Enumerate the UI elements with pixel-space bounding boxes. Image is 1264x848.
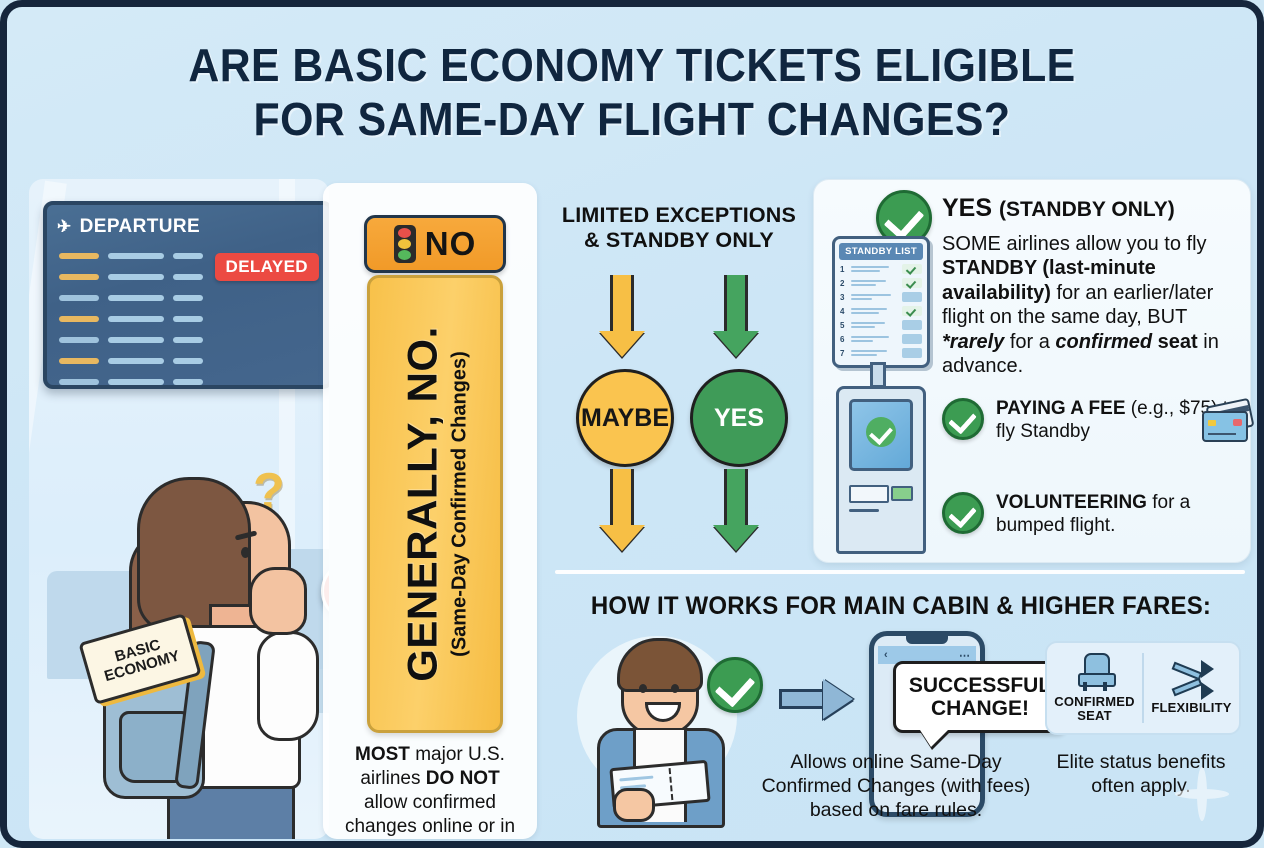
row-number: 3 xyxy=(840,293,848,302)
airport-illustration: ✈ DEPARTURE DELAYED ? xyxy=(29,179,329,839)
elite-benefits-box: CONFIRMED SEAT FLEXIBILITY xyxy=(1045,641,1241,735)
departure-board-title: DEPARTURE xyxy=(80,216,200,238)
standby-row: 7 xyxy=(840,347,922,359)
how-it-works-heading: HOW IT WORKS FOR MAIN CABIN & HIGHER FAR… xyxy=(569,592,1233,621)
row-number: 4 xyxy=(840,307,848,316)
standby-row: 6 xyxy=(840,333,922,345)
main-cabin-caption: Allows online Same-Day Confirmed Changes… xyxy=(751,751,1041,822)
node-maybe: MAYBE xyxy=(576,369,674,467)
arrow-down-maybe-top xyxy=(599,275,645,357)
generally-no-card: NO GENERALLY, NO. (Same-Day Confirmed Ch… xyxy=(323,183,537,839)
departure-board-header: ✈ DEPARTURE xyxy=(57,212,319,242)
eye-right xyxy=(671,684,679,693)
sparkle-icon xyxy=(1175,767,1229,821)
standby-kiosk: STANDBY LIST 1 2 3 4 5 6 7 xyxy=(832,236,924,548)
ellipsis-icon[interactable]: ⋯ xyxy=(959,649,970,662)
board-row xyxy=(59,312,319,325)
kiosk-pole xyxy=(870,362,886,388)
board-row xyxy=(59,333,319,346)
hand xyxy=(249,567,307,635)
standby-row: 2 xyxy=(840,277,922,289)
green-check-icon xyxy=(942,398,984,440)
row-number: 7 xyxy=(840,349,848,358)
row-number: 6 xyxy=(840,335,848,344)
kiosk-button[interactable] xyxy=(891,486,913,501)
generally-no-sub: (Same-Day Confirmed Changes) xyxy=(449,286,472,722)
green-check-icon xyxy=(707,657,763,713)
right-arrow-icon xyxy=(779,679,855,719)
row-empty-box xyxy=(902,292,922,302)
page-title-line-1: ARE BASIC ECONOMY TICKETS ELIGIBLE xyxy=(51,39,1214,93)
benefit-label-line-2: SEAT xyxy=(1077,708,1112,723)
body-seg-rarely: *rarely xyxy=(942,331,1004,353)
body-seg-seat: seat xyxy=(1152,331,1198,353)
benefit-flexibility: FLEXIBILITY xyxy=(1144,643,1239,733)
standby-list-screen: STANDBY LIST 1 2 3 4 5 6 7 xyxy=(832,236,930,368)
kiosk-body xyxy=(836,386,926,554)
status-badge-delayed: DELAYED xyxy=(215,253,319,281)
bullet-paying-a-fee: PAYING A FEE (e.g., $75) to fly Standby xyxy=(942,398,1246,444)
arrow-down-yes-bottom xyxy=(713,469,759,551)
standby-card: YES (STANDBY ONLY) SOME airlines allow y… xyxy=(813,179,1251,563)
standby-row: 1 xyxy=(840,263,922,275)
eye-left xyxy=(639,684,647,693)
benefit-confirmed-seat: CONFIRMED SEAT xyxy=(1047,643,1142,733)
row-number: 5 xyxy=(840,321,848,330)
standby-heading: YES (STANDBY ONLY) xyxy=(942,194,1175,223)
bullet-volunteering: VOLUNTEERING for a bumped flight. xyxy=(942,492,1246,538)
page-title-line-2: FOR SAME-DAY FLIGHT CHANGES? xyxy=(51,93,1214,147)
row-empty-box xyxy=(902,348,922,358)
traveler-figure: BASIC ECONOMY xyxy=(89,449,319,839)
hand xyxy=(613,788,655,822)
body-seg-confirmed: confirmed xyxy=(1055,331,1152,353)
generally-no-vertical-text: GENERALLY, NO. (Same-Day Confirmed Chang… xyxy=(399,286,472,722)
heading-line-2: & STANDBY ONLY xyxy=(545,228,813,253)
board-row xyxy=(59,375,319,388)
arm xyxy=(257,631,319,741)
standby-row: 3 xyxy=(840,291,922,303)
kiosk-display xyxy=(849,399,913,471)
standby-heading-strong: YES xyxy=(942,194,992,222)
infographic-canvas: ARE BASIC ECONOMY TICKETS ELIGIBLE FOR S… xyxy=(0,0,1264,848)
standby-list-rows: 1 2 3 4 5 6 7 xyxy=(840,263,922,361)
standby-row: 5 xyxy=(840,319,922,331)
phone-notch xyxy=(906,636,948,644)
node-yes: YES xyxy=(690,369,788,467)
standby-heading-rest: (STANDBY ONLY) xyxy=(999,198,1175,221)
kiosk-card-slot xyxy=(849,485,889,503)
traffic-light-icon xyxy=(394,225,416,263)
row-empty-box xyxy=(902,334,922,344)
limited-exceptions-heading: LIMITED EXCEPTIONS & STANDBY ONLY xyxy=(545,203,813,254)
body-seg: for a xyxy=(1004,331,1055,353)
back-chevron-icon[interactable]: ‹ xyxy=(884,649,888,661)
bubble-line-1: SUCCESSFUL xyxy=(904,674,1056,697)
kiosk-ticket-slot xyxy=(849,509,879,512)
eye xyxy=(241,547,250,558)
row-check-icon xyxy=(902,306,922,316)
benefit-label-line-1: CONFIRMED xyxy=(1054,694,1135,709)
bullet-bold: VOLUNTEERING xyxy=(996,492,1147,513)
shuffle-arrows-icon xyxy=(1170,661,1214,699)
heading-line-1: LIMITED EXCEPTIONS xyxy=(545,203,813,228)
standby-body: SOME airlines allow you to fly STANDBY (… xyxy=(942,232,1242,378)
airplane-seat-icon xyxy=(1074,653,1116,693)
body-bold-donot: DO NOT xyxy=(426,768,500,789)
green-check-icon xyxy=(942,492,984,534)
board-row xyxy=(59,354,319,367)
benefit-label: FLEXIBILITY xyxy=(1151,701,1231,715)
bullet-text: VOLUNTEERING for a bumped flight. xyxy=(996,492,1246,538)
row-number: 1 xyxy=(840,265,848,274)
row-number: 2 xyxy=(840,279,848,288)
section-divider xyxy=(555,570,1245,574)
body-seg: SOME airlines allow you to fly xyxy=(942,233,1207,255)
standby-row: 4 xyxy=(840,305,922,317)
arrow-down-yes-top xyxy=(713,275,759,357)
no-badge-label: NO xyxy=(425,225,477,263)
successful-change-bubble: SUCCESSFUL CHANGE! xyxy=(893,661,1067,733)
bubble-line-2: CHANGE! xyxy=(904,697,1056,720)
standby-list-title: STANDBY LIST xyxy=(839,243,923,260)
departure-board: ✈ DEPARTURE DELAYED xyxy=(43,201,329,389)
credit-cards-icon xyxy=(1202,402,1252,440)
generally-no-body: MOST major U.S. airlines DO NOT allow co… xyxy=(337,743,523,848)
row-check-icon xyxy=(902,264,922,274)
page-title: ARE BASIC ECONOMY TICKETS ELIGIBLE FOR S… xyxy=(51,39,1214,147)
airplane-icon: ✈ xyxy=(57,218,72,235)
row-empty-box xyxy=(902,320,922,330)
benefit-label: CONFIRMED SEAT xyxy=(1054,695,1135,724)
body-text: allow confirmed changes online or in adv… xyxy=(345,792,515,848)
board-row xyxy=(59,291,319,304)
arrow-down-maybe-bottom xyxy=(599,469,645,551)
kiosk-check-icon xyxy=(866,417,896,447)
body-bold-most: MOST xyxy=(355,744,410,765)
generally-no-banner: GENERALLY, NO. (Same-Day Confirmed Chang… xyxy=(367,275,503,733)
no-badge: NO xyxy=(364,215,506,273)
generally-no-main: GENERALLY, NO. xyxy=(399,286,447,722)
bullet-bold: PAYING A FEE xyxy=(996,398,1126,419)
row-check-icon xyxy=(902,278,922,288)
